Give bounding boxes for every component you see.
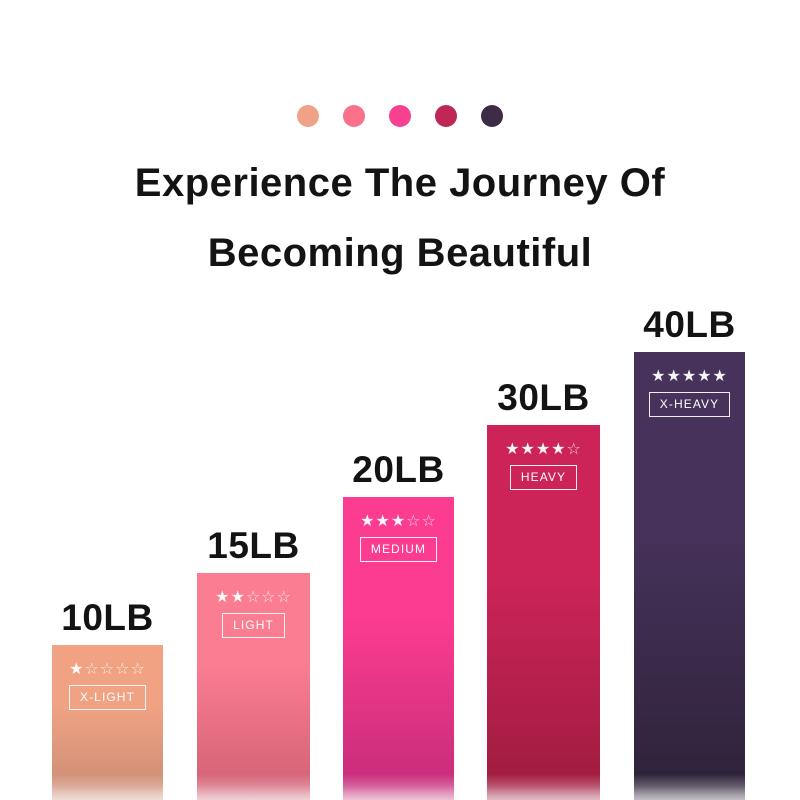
star-filled-icon: ★ [230, 589, 245, 606]
star-filled-icon: ★ [520, 441, 535, 458]
star-empty-icon: ☆ [115, 661, 130, 678]
bar-10lb-column: ★☆☆☆☆X-LIGHT [52, 645, 163, 800]
bar-20lb-value-label: 20LB [343, 451, 454, 488]
star-empty-icon: ☆ [84, 661, 99, 678]
star-empty-icon: ☆ [277, 589, 292, 606]
bar-30lb-level-badge: HEAVY [510, 465, 577, 490]
star-filled-icon: ★ [391, 513, 406, 530]
bar-10lb[interactable]: 10LB★☆☆☆☆X-LIGHT [52, 645, 163, 800]
star-filled-icon: ★ [375, 513, 390, 530]
bar-40lb[interactable]: 40LB★★★★★X-HEAVY [634, 352, 745, 800]
star-filled-icon: ★ [682, 368, 697, 385]
star-empty-icon: ☆ [246, 589, 261, 606]
bar-40lb-column: ★★★★★X-HEAVY [634, 352, 745, 800]
bar-15lb-badges: ★★☆☆☆LIGHT [197, 590, 310, 638]
star-filled-icon: ★ [505, 441, 520, 458]
star-filled-icon: ★ [651, 368, 666, 385]
bar-10lb-badges: ★☆☆☆☆X-LIGHT [52, 662, 163, 710]
star-empty-icon: ☆ [567, 441, 582, 458]
bar-15lb[interactable]: 15LB★★☆☆☆LIGHT [197, 573, 310, 800]
star-filled-icon: ★ [215, 589, 230, 606]
bar-20lb-badges: ★★★☆☆MEDIUM [343, 514, 454, 562]
star-filled-icon: ★ [666, 368, 681, 385]
bar-40lb-value-label: 40LB [634, 306, 745, 343]
star-empty-icon: ☆ [406, 513, 421, 530]
bar-15lb-star-rating: ★★☆☆☆ [215, 590, 292, 606]
star-filled-icon: ★ [697, 368, 712, 385]
bar-40lb-level-badge: X-HEAVY [649, 392, 731, 417]
bar-20lb-level-badge: MEDIUM [360, 537, 437, 562]
bar-15lb-level-badge: LIGHT [222, 613, 285, 638]
star-filled-icon: ★ [536, 441, 551, 458]
resistance-band-bar-chart: 10LB★☆☆☆☆X-LIGHT15LB★★☆☆☆LIGHT20LB★★★☆☆M… [0, 0, 800, 800]
star-empty-icon: ☆ [261, 589, 276, 606]
bar-20lb-column: ★★★☆☆MEDIUM [343, 497, 454, 800]
bar-40lb-fill [634, 352, 745, 800]
bar-30lb[interactable]: 30LB★★★★☆HEAVY [487, 425, 600, 800]
bar-40lb-star-rating: ★★★★★ [651, 369, 728, 385]
bar-20lb-star-rating: ★★★☆☆ [360, 514, 437, 530]
bar-15lb-value-label: 15LB [197, 527, 310, 564]
star-empty-icon: ☆ [100, 661, 115, 678]
bar-20lb[interactable]: 20LB★★★☆☆MEDIUM [343, 497, 454, 800]
star-filled-icon: ★ [713, 368, 728, 385]
star-filled-icon: ★ [69, 661, 84, 678]
bar-15lb-column: ★★☆☆☆LIGHT [197, 573, 310, 800]
bar-40lb-badges: ★★★★★X-HEAVY [634, 369, 745, 417]
bar-10lb-value-label: 10LB [52, 599, 163, 636]
bar-30lb-badges: ★★★★☆HEAVY [487, 442, 600, 490]
star-filled-icon: ★ [551, 441, 566, 458]
bar-10lb-level-badge: X-LIGHT [69, 685, 146, 710]
bar-30lb-star-rating: ★★★★☆ [505, 442, 582, 458]
bar-10lb-star-rating: ★☆☆☆☆ [69, 662, 146, 678]
star-empty-icon: ☆ [422, 513, 437, 530]
star-empty-icon: ☆ [131, 661, 146, 678]
star-filled-icon: ★ [360, 513, 375, 530]
bar-30lb-value-label: 30LB [487, 379, 600, 416]
bar-30lb-column: ★★★★☆HEAVY [487, 425, 600, 800]
